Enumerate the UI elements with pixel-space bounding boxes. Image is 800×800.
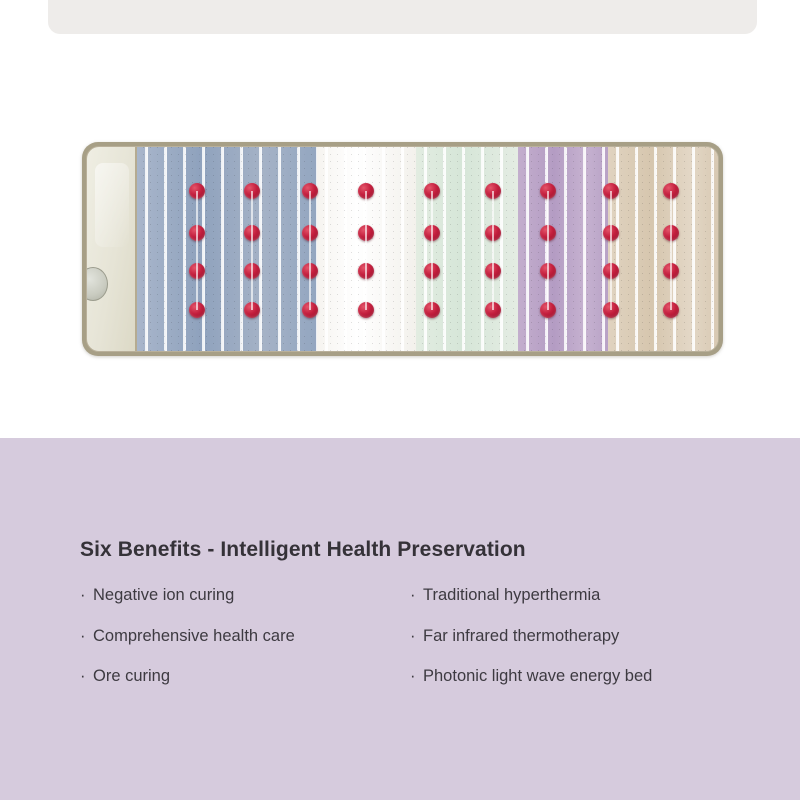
benefit-item-label: Negative ion curing [93, 586, 234, 605]
benefits-column-2: ·Traditional hyperthermia·Far infrared t… [410, 586, 652, 708]
stone-stitch-line [196, 191, 198, 310]
benefit-item: ·Far infrared thermotherapy [410, 627, 652, 646]
benefit-item: ·Photonic light wave energy bed [410, 667, 652, 686]
benefit-bullet-icon: · [410, 627, 423, 646]
product-detail-page: Six Benefits - Intelligent Health Preser… [0, 0, 800, 800]
benefit-item: ·Traditional hyperthermia [410, 586, 652, 605]
benefit-item-label: Ore curing [93, 667, 170, 686]
benefit-bullet-icon: · [410, 586, 423, 605]
benefits-columns: ·Negative ion curing·Comprehensive healt… [80, 586, 740, 708]
gemstone-dot-grid [87, 147, 718, 351]
benefit-item-label: Far infrared thermotherapy [423, 627, 619, 646]
stone-stitch-line [431, 191, 433, 310]
mat-surface [86, 146, 719, 352]
product-photo-stage [0, 60, 800, 438]
benefit-bullet-icon: · [80, 586, 93, 605]
stone-stitch-line [492, 191, 494, 310]
stone-stitch-line [251, 191, 253, 310]
benefit-item: ·Negative ion curing [80, 586, 410, 605]
benefit-bullet-icon: · [410, 667, 423, 686]
top-cropped-panel [48, 0, 757, 34]
benefit-item: ·Ore curing [80, 667, 410, 686]
benefit-item-label: Comprehensive health care [93, 627, 295, 646]
benefit-bullet-icon: · [80, 667, 93, 686]
stone-stitch-line [670, 191, 672, 310]
stone-stitch-line [309, 191, 311, 310]
benefits-column-1: ·Negative ion curing·Comprehensive healt… [80, 586, 410, 708]
benefit-item: ·Comprehensive health care [80, 627, 410, 646]
stone-stitch-line [365, 191, 367, 310]
product-mat-image[interactable] [82, 142, 723, 356]
stone-stitch-line [610, 191, 612, 310]
benefits-title: Six Benefits - Intelligent Health Preser… [80, 538, 526, 562]
benefits-section: Six Benefits - Intelligent Health Preser… [0, 438, 800, 800]
benefit-item-label: Photonic light wave energy bed [423, 667, 652, 686]
stone-stitch-line [547, 191, 549, 310]
benefit-bullet-icon: · [80, 627, 93, 646]
benefit-item-label: Traditional hyperthermia [423, 586, 600, 605]
